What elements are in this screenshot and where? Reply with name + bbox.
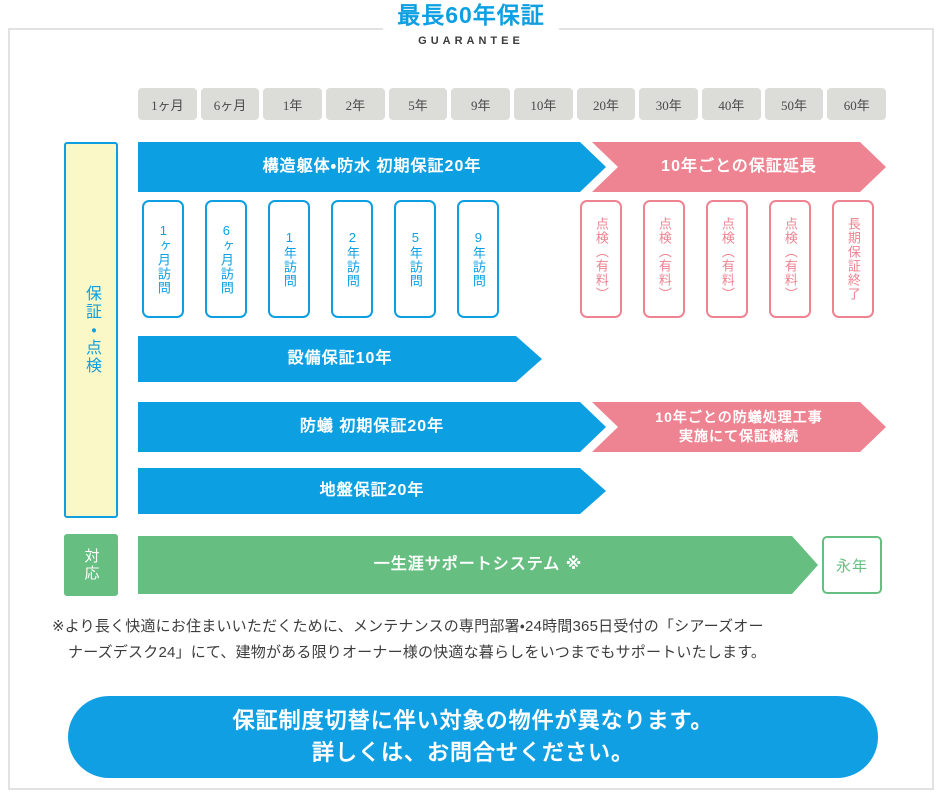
year-chip: 6ヶ月 — [201, 88, 260, 120]
footnote: ※より長く快適にお住まいいただくために、メンテナンスの専門部署・24時間365日… — [52, 614, 898, 667]
year-chip: 30年 — [639, 88, 698, 120]
bar-termite-extension: 10年ごとの防蟻処理工事 実施にて保証継続 — [592, 402, 886, 452]
year-chip: 10年 — [514, 88, 573, 120]
bar-structure-initial-warranty: 構造躯体・防水 初期保証20年 — [138, 142, 606, 192]
year-chip: 60年 — [827, 88, 886, 120]
year-chip: 2年 — [326, 88, 385, 120]
inspection-box-visit: 5年訪問 — [394, 200, 436, 318]
page-subtitle: GUARANTEE — [0, 32, 942, 50]
bar-termite-initial-warranty: 防蟻 初期保証20年 — [138, 402, 606, 452]
timeline-year-scale: 1ヶ月 6ヶ月 1年 2年 5年 9年 10年 20年 30年 40年 50年 … — [138, 88, 886, 120]
year-chip: 1年 — [263, 88, 322, 120]
year-chip: 9年 — [451, 88, 510, 120]
notice-banner-line-2: 詳しくは、お問合せください。 — [312, 737, 634, 769]
page-title: 最長60年保証 — [383, 0, 559, 30]
inspection-box-paid: 点検（有料） — [706, 200, 748, 318]
footnote-line-2: ナーズデスク24」にて、建物がある限りオーナー様の快適な暮らしをいつまでもサポー… — [52, 640, 898, 666]
bar-structure-extension: 10年ごとの保証延長 — [592, 142, 886, 192]
inspection-box-long-term-end: 長期保証終了 — [832, 200, 874, 318]
year-chip: 20年 — [577, 88, 636, 120]
inspection-box-visit: 1ヶ月訪問 — [142, 200, 184, 318]
notice-banner: 保証制度切替に伴い対象の物件が異なります。 詳しくは、お問合せください。 — [68, 696, 878, 778]
bar-ground-warranty: 地盤保証20年 — [138, 468, 606, 514]
inspection-box-paid: 点検（有料） — [769, 200, 811, 318]
page-header: 最長60年保証 GUARANTEE — [0, 0, 942, 60]
year-chip: 40年 — [702, 88, 761, 120]
bar-equipment-warranty: 設備保証10年 — [138, 336, 542, 382]
footnote-line-1: ※より長く快適にお住まいいただくために、メンテナンスの専門部署・24時間365日… — [52, 618, 764, 635]
bar-lifetime-support: 一生涯サポートシステム ※ — [138, 536, 818, 594]
inspection-box-visit: 9年訪問 — [457, 200, 499, 318]
inspection-box-paid: 点検（有料） — [643, 200, 685, 318]
year-chip: 1ヶ月 — [138, 88, 197, 120]
year-chip: 5年 — [389, 88, 448, 120]
notice-banner-line-1: 保証制度切替に伴い対象の物件が異なります。 — [233, 705, 714, 737]
inspection-box-visit: 2年訪問 — [331, 200, 373, 318]
inspection-box-paid: 点検（有料） — [580, 200, 622, 318]
category-label-warranty-inspection: 保証・点検 — [64, 142, 118, 518]
eternal-badge: 永年 — [822, 536, 882, 594]
inspection-box-visit: 6ヶ月訪問 — [205, 200, 247, 318]
inspection-box-visit: 1年訪問 — [268, 200, 310, 318]
category-label-support: 対応 — [64, 534, 118, 596]
year-chip: 50年 — [765, 88, 824, 120]
